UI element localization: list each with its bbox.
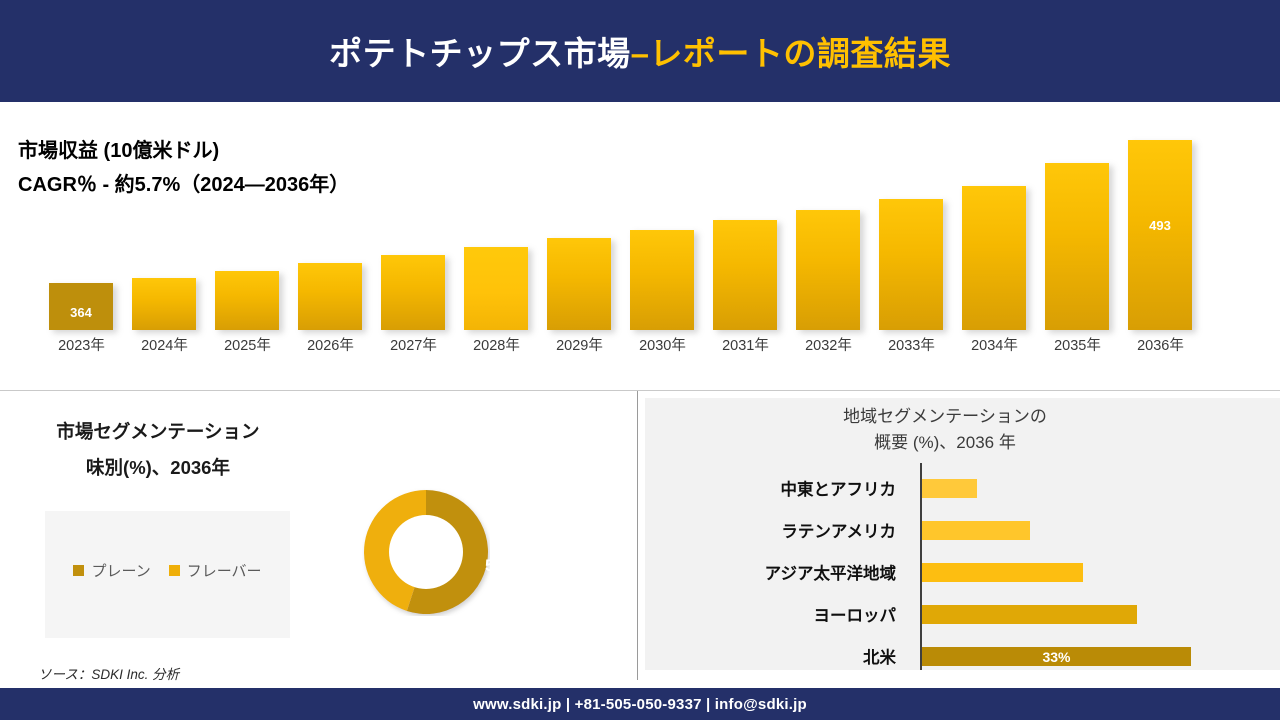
regional-title-line1: 地域セグメンテーションの [645, 404, 1245, 430]
regional-title-line2: 概要 (%)、2036 年 [645, 430, 1245, 456]
section-divider-vertical [637, 391, 638, 680]
bar-axis-label: 2025年 [206, 334, 289, 355]
regional-row: 中東とアフリカ [660, 470, 1220, 506]
bar-axis-label: 2024年 [123, 334, 206, 355]
regional-row: 北米33% [660, 638, 1220, 674]
page-title-accent: –レポートの調査結果 [631, 27, 951, 75]
segmentation-legend-box: プレーンフレーバー [45, 511, 290, 638]
bar-2027年 [381, 255, 445, 330]
legend-swatch-icon [73, 565, 84, 576]
bar-2028年 [464, 247, 528, 330]
regional-label: 中東とアフリカ [660, 470, 908, 506]
regional-title: 地域セグメンテーションの 概要 (%)、2036 年 [645, 404, 1245, 456]
segmentation-title-line1: 市場セグメンテーション [22, 414, 294, 450]
donut-slices [364, 490, 488, 614]
bar-axis-label: 2028年 [455, 334, 538, 355]
flavour-donut-chart [362, 488, 490, 616]
footer-band: www.sdki.jp | +81-505-050-9337 | info@sd… [0, 688, 1280, 720]
bar-axis-label: 2036年 [1119, 334, 1202, 355]
bar-axis-label: 2027年 [372, 334, 455, 355]
bar-axis-label: 2026年 [289, 334, 372, 355]
market-segmentation-panel: 市場セグメンテーション 味別(%)、2036年 プレーンフレーバー [0, 391, 637, 680]
bar-value-label: 493 [1128, 218, 1192, 233]
bar-axis-label: 2023年 [40, 334, 123, 355]
legend-item: フレーバー [169, 560, 262, 581]
legend-item: プレーン [73, 560, 150, 581]
regional-bar [922, 521, 1030, 540]
regional-row: ヨーロッパ [660, 596, 1220, 632]
bar-axis-label: 2031年 [704, 334, 787, 355]
bar-axis-label: 2029年 [538, 334, 621, 355]
segmentation-title: 市場セグメンテーション 味別(%)、2036年 [22, 414, 294, 486]
bar-chart-plot-area: 3642023年2024年2025年2026年2027年2028年2029年20… [40, 132, 1240, 330]
revenue-bar-chart: 3642023年2024年2025年2026年2027年2028年2029年20… [40, 132, 1240, 332]
bar-axis-label: 2033年 [870, 334, 953, 355]
legend-swatch-icon [169, 565, 180, 576]
bar-2033年 [879, 199, 943, 330]
regional-label: ラテンアメリカ [660, 512, 908, 548]
regional-row: ラテンアメリカ [660, 512, 1220, 548]
bar-2030年 [630, 230, 694, 330]
donut-value-label: 55% [485, 556, 519, 576]
legend-label: フレーバー [187, 560, 262, 581]
regional-bar: 33% [922, 647, 1191, 666]
regional-bar [922, 563, 1083, 582]
regional-bar-value: 33% [922, 647, 1191, 666]
regional-label: 北米 [660, 638, 908, 674]
segmentation-title-line2: 味別(%)、2036年 [22, 450, 294, 486]
bar-2023年: 364 [49, 283, 113, 330]
bar-2031年 [713, 220, 777, 330]
bar-axis-label: 2032年 [787, 334, 870, 355]
regional-label: ヨーロッパ [660, 596, 908, 632]
bar-2024年 [132, 278, 196, 330]
bar-2025年 [215, 271, 279, 330]
bar-2029年 [547, 238, 611, 330]
source-note: ソース：SDKI Inc. 分析 [38, 663, 179, 683]
bar-axis-label: 2030年 [621, 334, 704, 355]
segmentation-legend: プレーンフレーバー [45, 560, 290, 581]
donut-svg [362, 488, 490, 616]
bar-2026年 [298, 263, 362, 330]
legend-label: プレーン [91, 560, 150, 581]
regional-bar [922, 605, 1137, 624]
bar-2035年 [1045, 163, 1109, 330]
page-title-main: ポテトチップス市場 [329, 27, 631, 75]
bar-2032年 [796, 210, 860, 330]
footer-contact-text: www.sdki.jp | +81-505-050-9337 | info@sd… [473, 696, 807, 713]
bar-axis-label: 2034年 [953, 334, 1036, 355]
regional-bar [922, 479, 977, 498]
regional-label: アジア太平洋地域 [660, 554, 908, 590]
bar-axis-label: 2035年 [1036, 334, 1119, 355]
bar-value-label: 364 [49, 305, 113, 320]
donut-hole [389, 515, 463, 589]
bar-2034年 [962, 186, 1026, 330]
infographic-page: ポテトチップス市場 –レポートの調査結果 市場収益 (10億米ドル) CAGR％… [0, 0, 1280, 720]
bar-2036年: 493 [1128, 140, 1192, 330]
regional-row: アジア太平洋地域 [660, 554, 1220, 590]
page-title: ポテトチップス市場 –レポートの調査結果 [0, 0, 1280, 102]
